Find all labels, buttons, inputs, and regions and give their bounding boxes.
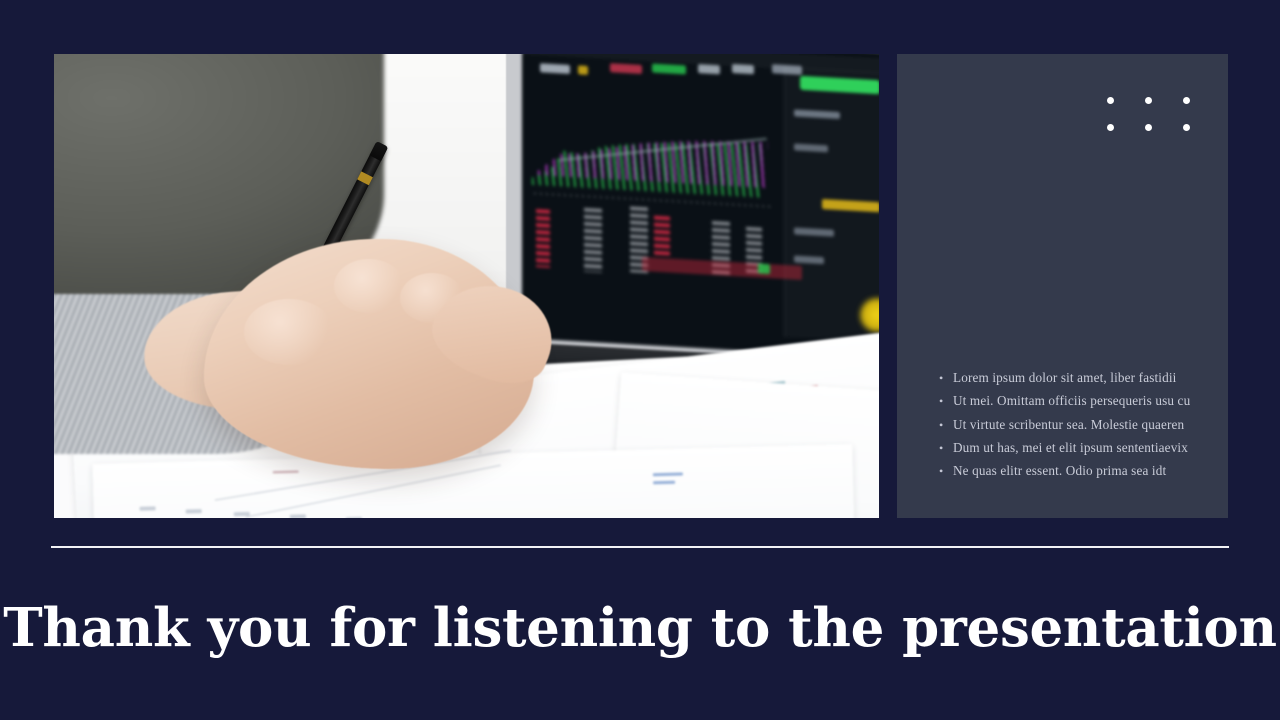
list-item-label: Ut mei. Omittam officiis persequeris usu… <box>953 393 1190 409</box>
dashboard-data-column <box>654 216 670 257</box>
dashboard-data-column <box>584 208 602 273</box>
list-item-label: Lorem ipsum dolor sit amet, liber fastid… <box>953 370 1177 386</box>
desk-photo <box>54 54 879 518</box>
document-axis-label <box>234 512 250 516</box>
document-axis-label <box>346 517 362 518</box>
list-item: • Ut mei. Omittam officiis persequeris u… <box>939 393 1214 409</box>
document-bar <box>653 473 683 477</box>
dashboard-data-column <box>536 209 550 268</box>
list-item: • Dum ut has, mei et elit ipsum sententi… <box>939 440 1214 456</box>
list-item: • Lorem ipsum dolor sit amet, liber fast… <box>939 370 1214 386</box>
list-item: • Ne quas elitr essent. Odio prima sea i… <box>939 463 1214 479</box>
dot-grid-dot <box>1183 124 1190 131</box>
list-item-label: Dum ut has, mei et elit ipsum sententiae… <box>953 440 1188 456</box>
dashboard-chip <box>578 65 588 75</box>
dot-grid-dot <box>1107 124 1114 131</box>
laptop-screen <box>522 54 879 362</box>
bullet-marker-icon: • <box>939 465 953 477</box>
bullet-marker-icon: • <box>939 395 953 407</box>
dot-grid-dot <box>1107 97 1114 104</box>
dashboard-trendline <box>559 138 775 213</box>
document-axis-label <box>186 509 202 513</box>
bullet-list: • Lorem ipsum dolor sit amet, liber fast… <box>939 370 1214 487</box>
list-item-label: Ne quas elitr essent. Odio prima sea idt <box>953 463 1166 479</box>
document-axis-label <box>290 514 306 518</box>
list-item-label: Ut virtute scribentur sea. Molestie quae… <box>953 417 1184 433</box>
side-panel: • Lorem ipsum dolor sit amet, liber fast… <box>897 54 1228 518</box>
horizontal-divider <box>51 546 1229 548</box>
dashboard-chip <box>758 263 770 274</box>
dashboard-chip <box>698 64 720 74</box>
dot-grid-dot <box>1183 97 1190 104</box>
knuckle-highlight <box>244 299 334 365</box>
bullet-marker-icon: • <box>939 419 953 431</box>
document-bar <box>653 481 675 485</box>
page-title: Thank you for listening to the presentat… <box>0 592 1280 664</box>
presentation-slide: • Lorem ipsum dolor sit amet, liber fast… <box>0 0 1280 720</box>
dot-grid-dot <box>1145 124 1152 131</box>
document-axis-label <box>140 506 156 510</box>
bullet-marker-icon: • <box>939 372 953 384</box>
dashboard-chip <box>732 64 754 74</box>
dashboard-chip <box>610 63 642 74</box>
list-item: • Ut virtute scribentur sea. Molestie qu… <box>939 417 1214 433</box>
bullet-marker-icon: • <box>939 442 953 454</box>
knuckle-highlight <box>334 259 404 313</box>
dot-grid-icon <box>1107 97 1191 129</box>
dashboard-chip <box>540 63 570 74</box>
dashboard-chip <box>652 64 686 75</box>
dot-grid-dot <box>1145 97 1152 104</box>
photo-frame <box>54 54 879 518</box>
document-bar <box>273 471 299 474</box>
